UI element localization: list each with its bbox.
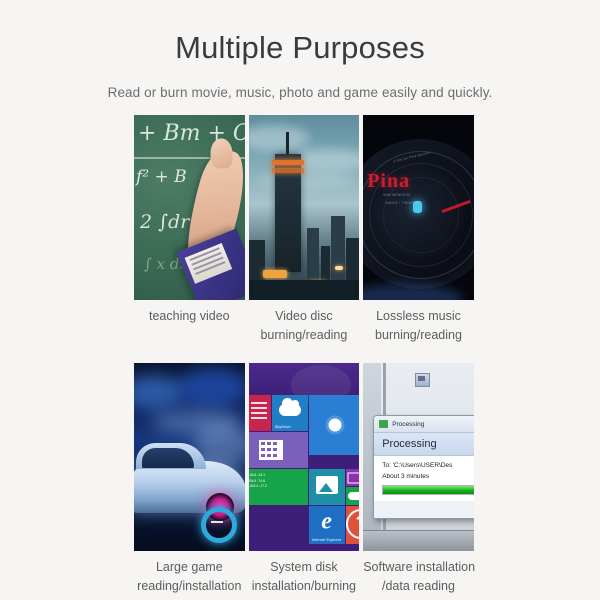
question-mark-icon: ?: [346, 509, 360, 539]
finance-tile[interactable]: ▪▪▪▪ ▾ 7,134.6 -14.1▪▪▪▪ ▾ 4,404.6 -74.6…: [249, 469, 308, 505]
promo-page: Multiple Purposes Read or burn movie, mu…: [0, 0, 600, 600]
dialog-path-line: To: 'C:\Users\USER\Des: [382, 462, 474, 469]
feature-row-1: + Bm + C f² + B 2 ∫dr ∫ x dx teaching vi…: [134, 115, 474, 347]
windows-start-screen: News SkyDrive: [249, 363, 360, 551]
chalk-text-2: f² + B: [136, 167, 187, 187]
caption-line: installation/burning: [249, 577, 360, 596]
neon-car-illustration: [134, 363, 245, 551]
finance-ticker-text: ▪▪▪▪ ▾ 7,134.6 -14.1▪▪▪▪ ▾ 4,404.6 -74.6…: [249, 473, 267, 490]
app-icon: [379, 420, 388, 428]
caption-teaching-video: teaching video: [134, 307, 245, 347]
news-tile[interactable]: News: [249, 395, 271, 431]
caption-line: System disk: [249, 558, 360, 577]
thumbnail-large-game[interactable]: [134, 363, 245, 551]
progress-bar: [382, 485, 474, 495]
tile-label: SkyDrive: [275, 424, 291, 429]
feature-cell-large-game[interactable]: Large game reading/installation: [134, 363, 245, 596]
dialog-time-line: About 3 minutes: [382, 473, 474, 480]
hud-ring-icon: [201, 507, 237, 543]
internet-explorer-icon: e: [321, 508, 332, 535]
processing-dialog[interactable]: Processing Processing To: 'C:\Users\USER…: [373, 415, 474, 519]
caption-line: burning/reading: [363, 326, 474, 345]
feature-cell-system-disk[interactable]: News SkyDrive: [249, 363, 360, 596]
dialog-body: To: 'C:\Users\USER\Des About 3 minutes: [374, 456, 474, 501]
book-icon: [177, 228, 245, 300]
dialog-footer: [374, 501, 474, 519]
blackboard-illustration: + Bm + C f² + B 2 ∫dr ∫ x dx: [134, 115, 245, 300]
dialog-titlebar-text: Processing: [392, 421, 424, 428]
caption-lossless-music: Lossless music burning/reading: [363, 307, 474, 347]
feature-cell-teaching-video[interactable]: + Bm + C f² + B 2 ∫dr ∫ x dx teaching vi…: [134, 115, 245, 347]
gamepad-icon: [348, 492, 360, 500]
mail-icon: [347, 472, 359, 483]
thumbnail-lossless-music[interactable]: Pina a film for Pina Bausch WIM WENDERS …: [363, 115, 474, 300]
weather-tile[interactable]: [309, 395, 360, 455]
skydrive-tile[interactable]: SkyDrive: [272, 395, 308, 431]
dialog-titlebar: Processing: [374, 416, 474, 433]
calculator-icon: [259, 440, 283, 460]
help-tile[interactable]: ?: [346, 506, 360, 544]
feature-grid: + Bm + C f² + B 2 ∫dr ∫ x dx teaching vi…: [134, 115, 474, 596]
chalk-text-3: 2 ∫dr: [140, 211, 189, 233]
thumbnail-software-installation[interactable]: Processing Processing To: 'C:\Users\USER…: [363, 363, 474, 551]
caption-line: teaching video: [134, 307, 245, 326]
desktop-background: Processing Processing To: 'C:\Users\USER…: [363, 363, 474, 551]
thumbnail-system-disk[interactable]: News SkyDrive: [249, 363, 360, 551]
feature-cell-video-disc[interactable]: Video disc burning/reading: [249, 115, 360, 347]
desktop-file-icon[interactable]: [415, 373, 430, 387]
tile-label: Internet Explorer: [312, 537, 342, 542]
dialog-heading: Processing: [374, 433, 474, 456]
sun-icon: [328, 419, 341, 432]
disc-label-text: Pina: [367, 170, 410, 193]
taskbar[interactable]: [363, 530, 474, 551]
caption-video-disc: Video disc burning/reading: [249, 307, 360, 347]
caption-line: burning/reading: [249, 326, 360, 345]
caption-line: Lossless music: [363, 307, 474, 326]
caption-software-installation: Software installation /data reading: [363, 558, 474, 596]
games-tile[interactable]: [346, 487, 360, 505]
skyscraper-icon: [275, 154, 301, 272]
thumbnail-teaching-video[interactable]: + Bm + C f² + B 2 ∫dr ∫ x dx: [134, 115, 245, 300]
internet-explorer-tile[interactable]: e Internet Explorer: [309, 506, 345, 544]
feature-cell-software-installation[interactable]: Processing Processing To: 'C:\Users\USER…: [363, 363, 474, 596]
caption-line: reading/installation: [134, 577, 245, 596]
vinyl-disc-illustration: Pina a film for Pina Bausch WIM WENDERS …: [363, 115, 474, 300]
caption-system-disk: System disk installation/burning: [249, 558, 360, 596]
mail-tile[interactable]: [346, 469, 360, 486]
photo-icon: [316, 476, 338, 494]
city-skyline-illustration: [249, 115, 360, 300]
caption-large-game: Large game reading/installation: [134, 558, 245, 596]
feature-row-2: Large game reading/installation News: [134, 363, 474, 596]
cloud-icon: [279, 404, 301, 416]
calculator-tile[interactable]: [249, 432, 308, 468]
feature-cell-lossless-music[interactable]: Pina a film for Pina Bausch WIM WENDERS …: [363, 115, 474, 347]
page-title: Multiple Purposes: [0, 30, 600, 66]
caption-line: Software installation: [363, 558, 474, 577]
caption-line: Video disc: [249, 307, 360, 326]
caption-line: /data reading: [363, 577, 474, 596]
thumbnail-video-disc[interactable]: [249, 115, 360, 300]
caption-line: Large game: [134, 558, 245, 577]
photos-tile[interactable]: [309, 469, 345, 505]
page-subtitle: Read or burn movie, music, photo and gam…: [0, 85, 600, 100]
